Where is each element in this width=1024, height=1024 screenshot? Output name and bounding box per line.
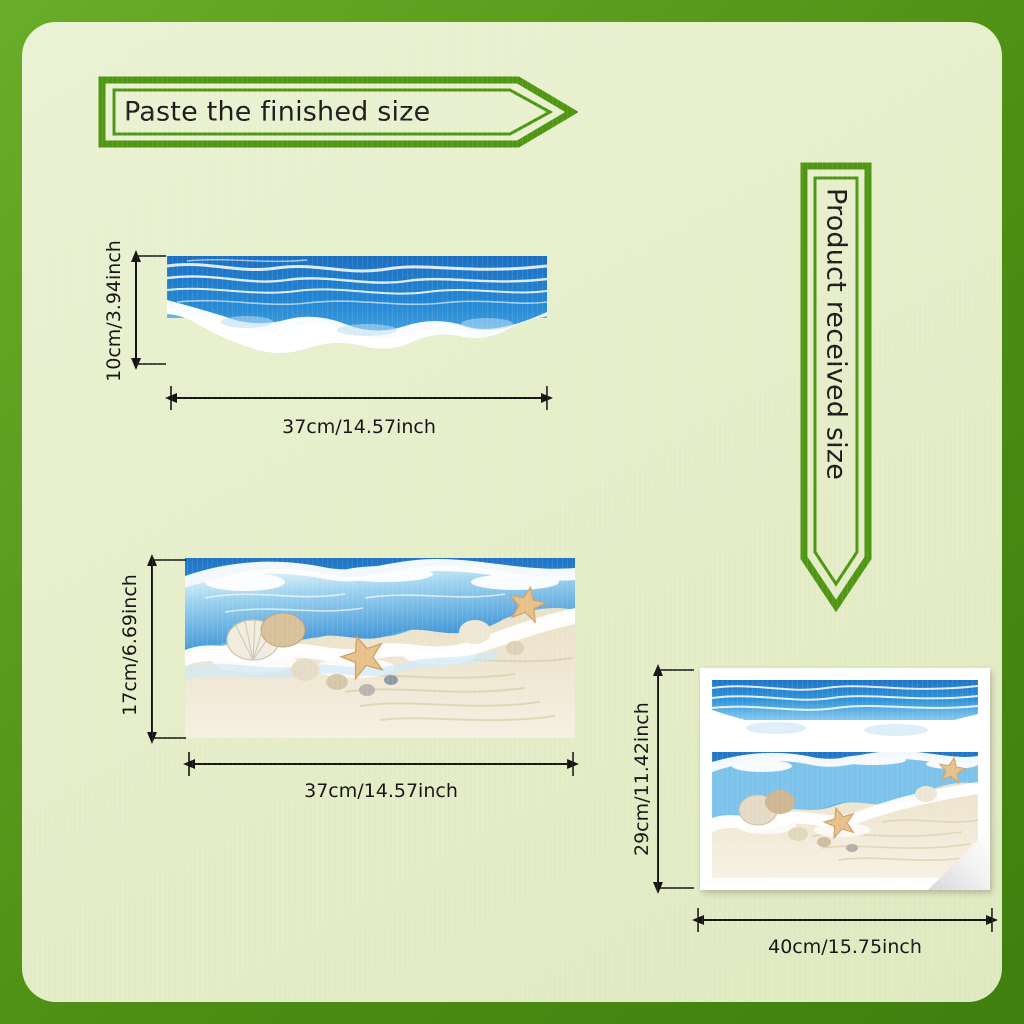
banner-product-received-size: Product received size: [798, 162, 874, 612]
dimension-label-wave-strip-width: 37cm/14.57inch: [165, 416, 553, 438]
dimension-label-product-sheet-height: 29cm/11.42inch: [631, 706, 653, 856]
dimension-label-product-sheet-width: 40cm/15.75inch: [692, 936, 998, 958]
pebble-grey: [359, 684, 375, 696]
beach-wave-shells-starfish-art: [185, 558, 575, 738]
pebble-far: [506, 641, 524, 655]
seashell-tan: [261, 613, 305, 647]
dimension-line-wave-strip-height: [126, 250, 166, 370]
banner-label-product-received-size: Product received size: [821, 188, 852, 480]
figure-beach-scene: [185, 558, 575, 738]
poster-canvas: Paste the finished size Product received…: [0, 0, 1024, 1024]
pebble-light: [291, 659, 319, 681]
dimension-line-product-sheet-width: [692, 908, 998, 932]
sheet-shell-far: [915, 786, 937, 802]
dimension-label-beach-scene-width: 37cm/14.57inch: [183, 780, 579, 802]
pebble-tan: [326, 674, 348, 690]
figure-product-sheet: [700, 668, 990, 890]
dimension-line-beach-scene-width: [183, 752, 579, 776]
printed-sticker-sheet-art: [706, 674, 984, 884]
sheet-pebble-2: [817, 837, 831, 847]
dimension-line-wave-strip-width: [165, 386, 553, 410]
dimension-label-wave-strip-height: 10cm/3.94inch: [103, 236, 125, 386]
pebble-blue: [384, 675, 398, 685]
banner-paste-finished-size: Paste the finished size: [98, 74, 578, 150]
dimension-label-beach-scene-height: 17cm/6.69inch: [119, 570, 141, 720]
sheet-shell-tan: [765, 790, 795, 814]
ocean-wave-foam-strip-art: [167, 256, 547, 362]
dimension-line-product-sheet-height: [648, 664, 694, 894]
shell-far: [459, 620, 491, 644]
sheet-pebble: [788, 827, 808, 841]
poster-inner-panel: Paste the finished size Product received…: [22, 22, 1002, 1002]
sheet-pebble-3: [846, 844, 858, 852]
dimension-line-beach-scene-height: [142, 554, 186, 744]
product-sheet-artwork: [706, 674, 984, 884]
figure-wave-strip: [167, 256, 547, 362]
banner-label-paste-finished-size: Paste the finished size: [124, 97, 430, 128]
